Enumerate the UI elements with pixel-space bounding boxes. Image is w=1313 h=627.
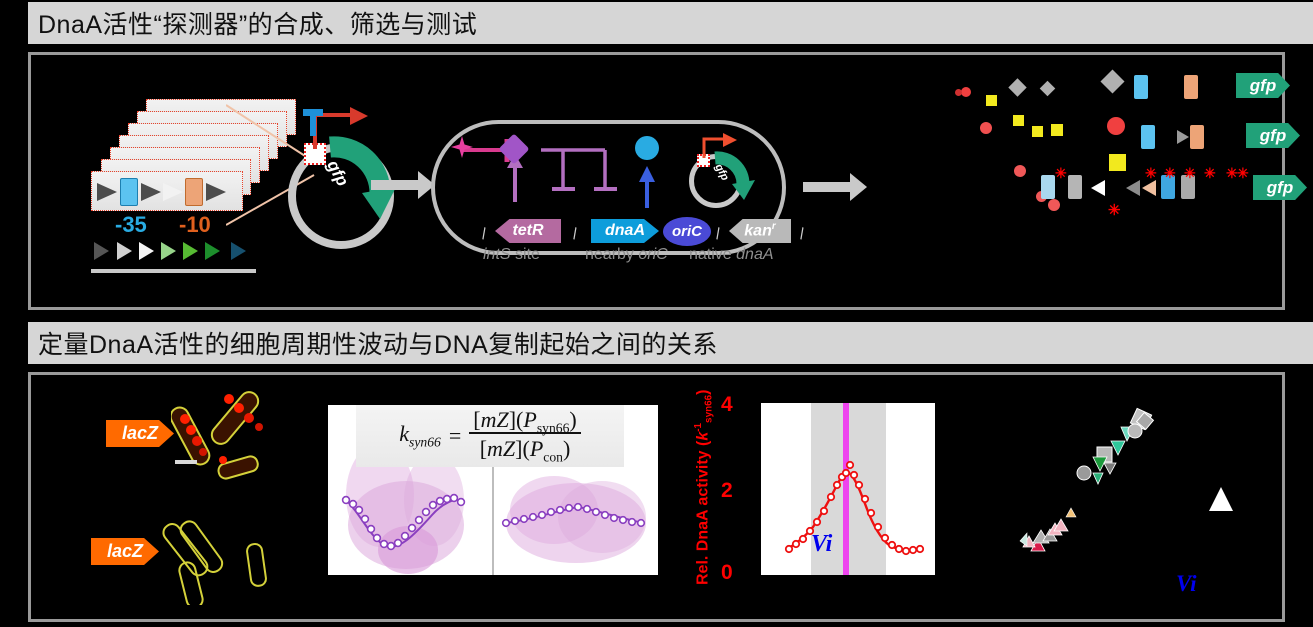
ligand-star-icon (451, 136, 473, 158)
initiation-volume-label: Vi (811, 531, 832, 558)
variant-arrow-icon (161, 242, 176, 260)
mutation-asterisk-icon: ✳ (1055, 166, 1067, 180)
sublabel-native-dnaa: native dnaA (689, 246, 774, 264)
construct3-arrow-peach-icon (1142, 180, 1156, 196)
gene-label-kanr: kanr (744, 221, 775, 240)
construct3-arrow-white-icon (1091, 180, 1105, 196)
mutation-asterisk-icon: ✳ (1145, 166, 1157, 180)
gene-tag-kanr: kanr (729, 219, 791, 243)
vi-label-correlation: Vi (1176, 571, 1196, 596)
gene-label-dnaa: dnaA (605, 222, 645, 240)
mutation-asterisk-icon: ✳ (1184, 166, 1196, 180)
equation-fraction: [mZ](Psyn66) [mZ](Pcon) (469, 407, 580, 466)
lacz-tag-2: lacZ (91, 538, 159, 565)
variant-arrow-icon (117, 242, 132, 260)
ylabel-sub: syn66 (704, 395, 715, 423)
minus10-label: -10 (179, 212, 211, 238)
equation-equals: = (449, 423, 461, 449)
gene-label-oric: oriC (672, 223, 702, 240)
equation-numerator: [mZ](Psyn66) (469, 407, 580, 434)
equation-lhs: ksyn66 (399, 421, 441, 450)
mutation-asterisk-icon: ✳ (1237, 166, 1249, 180)
construct1-minus35-box (1134, 75, 1148, 99)
gene-label-tetr: tetR (512, 222, 543, 240)
bottom-panel: lacZ lacZ (28, 372, 1285, 622)
sublabel-ints-italic: intS (483, 246, 511, 263)
ylabel-sup: -1 (693, 423, 704, 432)
section-title-bottom: 定量DnaA活性的细胞周期性波动与DNA复制起始之间的关系 (38, 325, 718, 361)
construct3-box-lightblue (1041, 175, 1055, 199)
scatter-point-red (980, 122, 992, 134)
ylabel-close: ) (694, 390, 711, 395)
construct1-gfp-tag: gfp (1236, 73, 1290, 98)
flow-arrow-1 (371, 180, 419, 190)
construct2-arrow-icon (1177, 130, 1189, 144)
screening-scatter-plot: ✳ (906, 65, 1106, 245)
ylabel-unit: k (694, 432, 711, 441)
construct2-gfp-label: gfp (1260, 126, 1286, 146)
chromosome-tick: \ (477, 226, 489, 244)
scatter-point-yellow (986, 95, 997, 106)
minus10-box (185, 178, 203, 206)
section-title-top: DnaA活性“探测器”的合成、筛选与测试 (38, 5, 477, 41)
slide-root: DnaA活性“探测器”的合成、筛选与测试 -35 -10 (0, 0, 1313, 627)
scatter-point-yellow (1051, 124, 1063, 136)
construct1-minus10-box (1184, 75, 1198, 99)
promoter-arrow-icon (163, 183, 183, 201)
construct3-gfp-label: gfp (1267, 178, 1293, 198)
correlation-scatter-plot: Vi (971, 385, 1281, 615)
construct2-gfp-tag: gfp (1246, 123, 1300, 148)
construct3-gfp-tag: gfp (1253, 175, 1307, 200)
ytick-0: 0 (721, 561, 733, 585)
mutation-asterisk-icon: ✳ (1226, 166, 1238, 180)
cells-with-foci (171, 385, 311, 485)
selected-construct-2: gfp (1086, 120, 1276, 150)
cell-reporter-plasmid: gfp (685, 132, 771, 210)
dnaa-activity-plot: Rel. DnaA activity (k-1syn66) 4 2 0 (671, 375, 921, 623)
scatter-point-red (1014, 165, 1026, 177)
sublabel-nearby-oric: nearby oriC (585, 246, 668, 264)
promoter-arrow-icon (206, 183, 226, 201)
dnaa-protein-icon (635, 136, 659, 160)
mutation-asterisk-icon: ✳ (1204, 166, 1216, 180)
construct2-minus10-box (1190, 125, 1204, 149)
scatter-point-yellow (1032, 126, 1043, 137)
dnaa-activity-curve (761, 403, 935, 575)
gene-tag-oric: oriC (663, 217, 711, 246)
equation-denominator: [mZ](Pcon) (476, 436, 575, 461)
lacz-label-2: lacZ (107, 541, 143, 562)
scale-bar (175, 460, 197, 464)
bacterial-cell: gfp \ tetR \ dnaA oriC \ kanr \ (431, 120, 786, 255)
flow-arrow-2 (803, 182, 851, 192)
gene-tag-dnaa: dnaA (591, 219, 659, 243)
ytick-4: 4 (721, 393, 733, 417)
scatter-point-grey (1008, 78, 1026, 96)
dnaa-plot-area: Vi (761, 403, 935, 575)
variant-arrow-icon (231, 242, 246, 260)
correlation-markers (971, 385, 1281, 585)
minus35-label: -35 (115, 212, 147, 238)
chromosome-tick: \ (711, 226, 723, 244)
mutation-asterisk-icon: ✳ (1164, 166, 1176, 180)
micrograph-lacz-outline: lacZ (71, 500, 301, 610)
chromosome-tick: \ (795, 226, 807, 244)
sublabel-ints-site: intS site (483, 246, 540, 264)
lacz-tag-1: lacZ (106, 420, 174, 447)
gene-tag-tetr: tetR (495, 219, 561, 243)
mutation-asterisk-icon: ✳ (1108, 203, 1121, 218)
ksyn66-equation: ksyn66 = [mZ](Psyn66) [mZ](Pcon) (356, 405, 624, 467)
variant-arrow-icon (94, 242, 109, 260)
dnaa-activity-ylabel: Rel. DnaA activity (k-1syn66) (693, 390, 715, 585)
top-panel: -35 -10 (28, 52, 1285, 310)
vi-label-activity: Vi (811, 531, 832, 557)
promoter-arrow-icon (141, 183, 161, 201)
variant-arrow-icon (183, 242, 198, 260)
scatter-point-red (955, 89, 962, 96)
lacz-label-1: lacZ (122, 423, 158, 444)
terminator-icon (300, 109, 326, 139)
construct3-box-grey (1068, 175, 1082, 199)
construct1-gfp-label: gfp (1250, 76, 1276, 96)
variant-arrow-icon (205, 242, 220, 260)
variant-arrow-icon (139, 242, 154, 260)
library-baseline (91, 269, 256, 273)
section-header-top: DnaA活性“探测器”的合成、筛选与测试 (28, 2, 1313, 44)
chromosome-gene-row: \ tetR \ dnaA oriC \ kanr \ intS si (435, 214, 790, 258)
selected-construct-3: ✳ ✳ ✳ ✳ ✳ ✳ ✳ gfp (1041, 167, 1291, 201)
minus35-box (120, 178, 138, 206)
ratio-quantification-figure: ksyn66 = [mZ](Psyn66) [mZ](Pcon) (328, 405, 658, 575)
correlation-xaxis-label: Vi (1176, 571, 1196, 597)
selected-construct-1: gfp (1086, 70, 1276, 100)
ytick-2: 2 (721, 479, 733, 503)
dnaa-expression-arrow (635, 162, 659, 208)
scatter-point-red (961, 87, 971, 97)
micrograph-lacz-foci: lacZ (71, 385, 301, 490)
chromosome-tick: \ (568, 226, 580, 244)
scatter-point-grey (1040, 81, 1056, 97)
section-header-bottom: 定量DnaA活性的细胞周期性波动与DNA复制起始之间的关系 (28, 322, 1313, 364)
construct3-arrow-grey-icon (1126, 180, 1140, 196)
ylabel-text: Rel. DnaA activity ( (694, 441, 711, 585)
promoter-arrow-icon (97, 183, 117, 201)
construct2-minus35-box (1141, 125, 1155, 149)
sublabel-oric-italic: oriC (638, 246, 667, 263)
scatter-point-yellow (1013, 115, 1024, 126)
cells-outline-only (161, 500, 301, 605)
sublabel-dnaa-italic: dnaA (736, 246, 773, 263)
library-sheet-front (91, 171, 243, 211)
